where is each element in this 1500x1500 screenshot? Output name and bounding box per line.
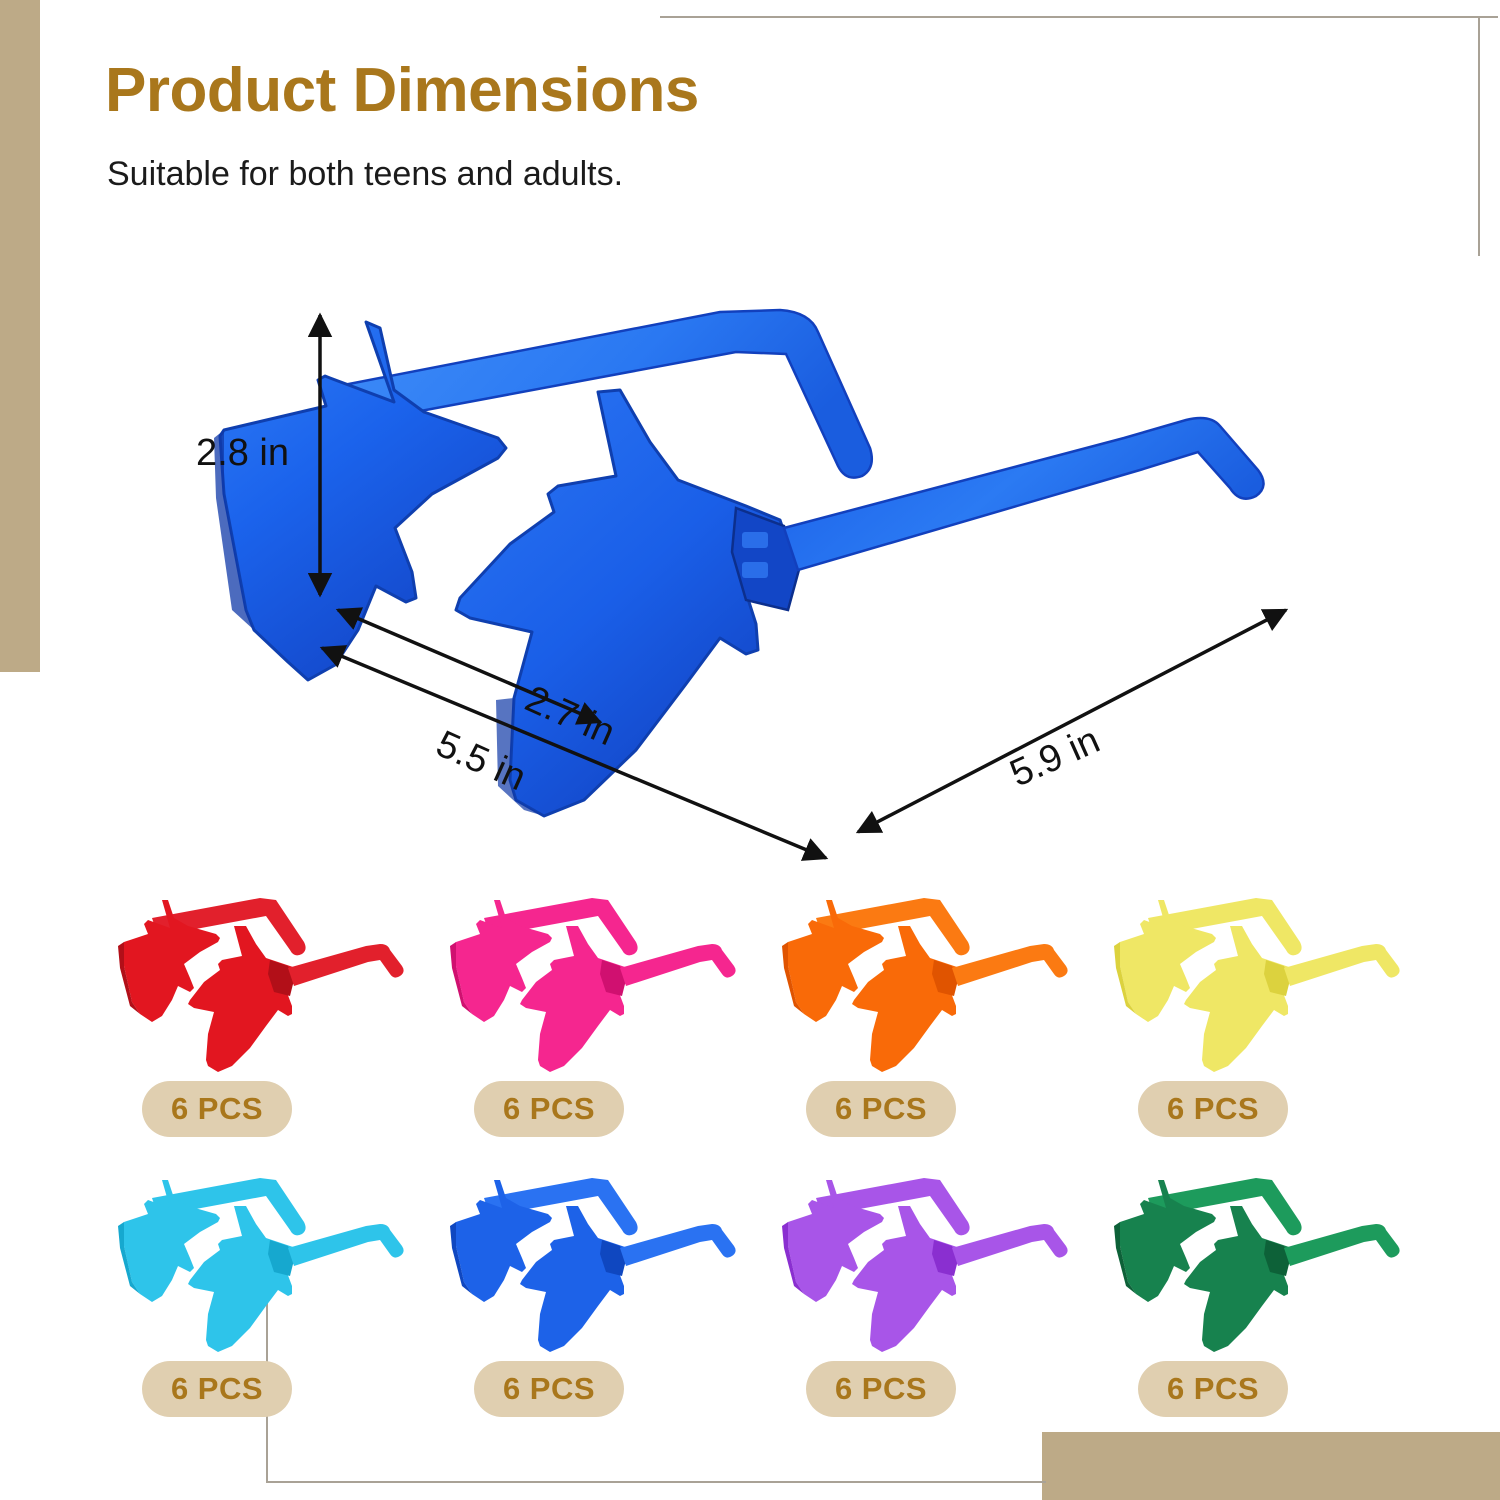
pcs-badge: 6 PCS: [1138, 1081, 1288, 1137]
star-sunglasses-diagram: [180, 280, 1320, 880]
sunglasses-thumb-light-blue: [118, 1170, 408, 1355]
variant-cell-red[interactable]: 6 PCS: [100, 890, 432, 1170]
sunglasses-thumb-blue: [450, 1170, 740, 1355]
sunglasses-thumb-orange: [782, 890, 1072, 1075]
decor-line-top: [660, 16, 1498, 18]
sunglasses-thumb-green: [1114, 1170, 1404, 1355]
page-subtitle: Suitable for both teens and adults.: [107, 155, 623, 194]
pcs-badge: 6 PCS: [474, 1361, 624, 1417]
decor-left-bar: [0, 0, 40, 672]
sunglasses-thumb-yellow: [1114, 890, 1404, 1075]
sunglasses-thumb-pink: [450, 890, 740, 1075]
variant-cell-green[interactable]: 6 PCS: [1096, 1170, 1428, 1450]
decor-line-bottom: [266, 1481, 1046, 1483]
pcs-badge: 6 PCS: [806, 1081, 956, 1137]
page-title: Product Dimensions: [105, 55, 699, 126]
color-variant-grid: 6 PCS 6 PCS: [100, 890, 1430, 1450]
variant-row: 6 PCS 6 PCS: [100, 890, 1430, 1170]
pcs-badge: 6 PCS: [142, 1081, 292, 1137]
variant-cell-orange[interactable]: 6 PCS: [764, 890, 1096, 1170]
variant-cell-pink[interactable]: 6 PCS: [432, 890, 764, 1170]
pcs-badge: 6 PCS: [806, 1361, 956, 1417]
pcs-badge: 6 PCS: [1138, 1361, 1288, 1417]
dimension-label-height: 2.8 in: [196, 432, 289, 475]
sunglasses-thumb-purple: [782, 1170, 1072, 1355]
pcs-badge: 6 PCS: [142, 1361, 292, 1417]
variant-cell-light-blue[interactable]: 6 PCS: [100, 1170, 432, 1450]
decor-line-right: [1478, 16, 1480, 256]
dimension-arrow-temple-length: [858, 610, 1286, 832]
sunglasses-thumb-red: [118, 890, 408, 1075]
pcs-badge: 6 PCS: [474, 1081, 624, 1137]
variant-cell-purple[interactable]: 6 PCS: [764, 1170, 1096, 1450]
variant-cell-blue[interactable]: 6 PCS: [432, 1170, 764, 1450]
hero-product-illustration: [180, 280, 1320, 880]
variant-cell-yellow[interactable]: 6 PCS: [1096, 890, 1428, 1170]
product-dimensions-infographic: Product Dimensions Suitable for both tee…: [0, 0, 1500, 1500]
variant-row: 6 PCS 6 PCS: [100, 1170, 1430, 1450]
